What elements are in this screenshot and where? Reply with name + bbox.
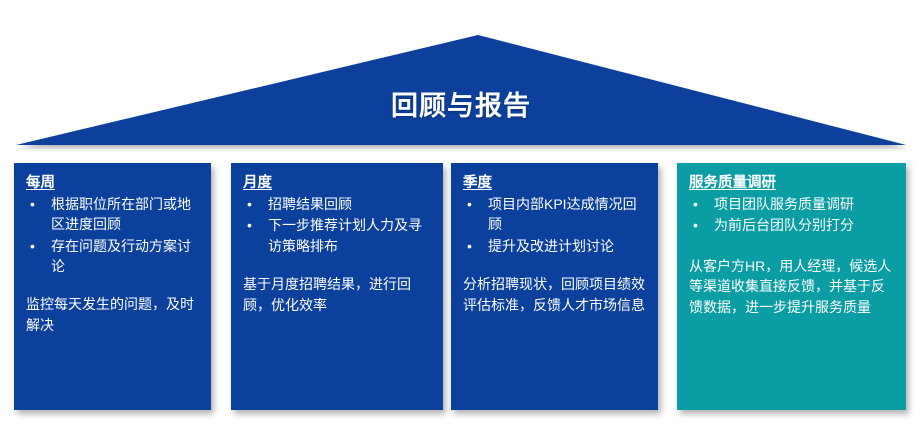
bullet-dot-icon: •: [467, 194, 472, 214]
bullet-dot-icon: •: [30, 194, 35, 214]
list-item: • 项目团队服务质量调研: [689, 194, 896, 214]
list-item: • 招聘结果回顾: [243, 194, 433, 214]
card-heading: 月度: [243, 174, 433, 192]
roof-shape: 回顾与报告: [0, 0, 922, 155]
card-quarterly[interactable]: 季度 • 项目内部KPI达成情况回顾 • 提升及改进计划讨论 分析招聘现状，回顾…: [451, 163, 658, 410]
list-item: • 提升及改进计划讨论: [463, 236, 648, 256]
list-item: • 为前后台团队分别打分: [689, 215, 896, 235]
bullet-dot-icon: •: [247, 215, 252, 235]
list-item-text: 项目团队服务质量调研: [714, 196, 854, 212]
card-note: 监控每天发生的问题，及时解决: [26, 294, 201, 335]
card-weekly[interactable]: 每周 • 根据职位所在部门或地区进度回顾 • 存在问题及行动方案讨论 监控每天发…: [14, 163, 211, 410]
list-item-text: 为前后台团队分别打分: [714, 217, 854, 233]
list-item: • 下一步推荐计划人力及寻访策略排布: [243, 215, 433, 256]
bullet-dot-icon: •: [693, 215, 698, 235]
card-bullet-list: • 项目内部KPI达成情况回顾 • 提升及改进计划讨论: [463, 194, 648, 256]
list-item-text: 下一步推荐计划人力及寻访策略排布: [268, 217, 422, 253]
card-note: 从客户方HR，用人经理，候选人等渠道收集直接反馈，并基于反馈数据，进一步提升服务…: [689, 256, 896, 318]
roof-triangle-icon: [0, 0, 922, 155]
card-bullet-list: • 根据职位所在部门或地区进度回顾 • 存在问题及行动方案讨论: [26, 194, 201, 276]
card-monthly[interactable]: 月度 • 招聘结果回顾 • 下一步推荐计划人力及寻访策略排布 基于月度招聘结果，…: [231, 163, 443, 410]
card-heading: 服务质量调研: [689, 174, 896, 192]
list-item-text: 根据职位所在部门或地区进度回顾: [51, 196, 191, 232]
card-bullet-list: • 招聘结果回顾 • 下一步推荐计划人力及寻访策略排布: [243, 194, 433, 256]
bullet-dot-icon: •: [247, 194, 252, 214]
list-item: • 项目内部KPI达成情况回顾: [463, 194, 648, 235]
card-note: 分析招聘现状，回顾项目绩效评估标准，反馈人才市场信息: [463, 274, 648, 315]
card-heading: 季度: [463, 174, 648, 192]
card-service-quality-survey[interactable]: 服务质量调研 • 项目团队服务质量调研 • 为前后台团队分别打分 从客户方HR，…: [677, 163, 906, 410]
list-item-text: 存在问题及行动方案讨论: [51, 238, 191, 274]
bullet-dot-icon: •: [467, 236, 472, 256]
bullet-dot-icon: •: [30, 236, 35, 256]
list-item: • 根据职位所在部门或地区进度回顾: [26, 194, 201, 235]
card-bullet-list: • 项目团队服务质量调研 • 为前后台团队分别打分: [689, 194, 896, 236]
list-item-text: 招聘结果回顾: [268, 196, 352, 212]
slide-canvas: 回顾与报告 每周 • 根据职位所在部门或地区进度回顾 • 存在问题及行动方案讨论…: [0, 0, 922, 433]
list-item: • 存在问题及行动方案讨论: [26, 236, 201, 277]
card-heading: 每周: [26, 174, 201, 192]
list-item-text: 项目内部KPI达成情况回顾: [488, 196, 637, 232]
list-item-text: 提升及改进计划讨论: [488, 238, 614, 254]
bullet-dot-icon: •: [693, 194, 698, 214]
card-note: 基于月度招聘结果，进行回顾，优化效率: [243, 274, 433, 315]
